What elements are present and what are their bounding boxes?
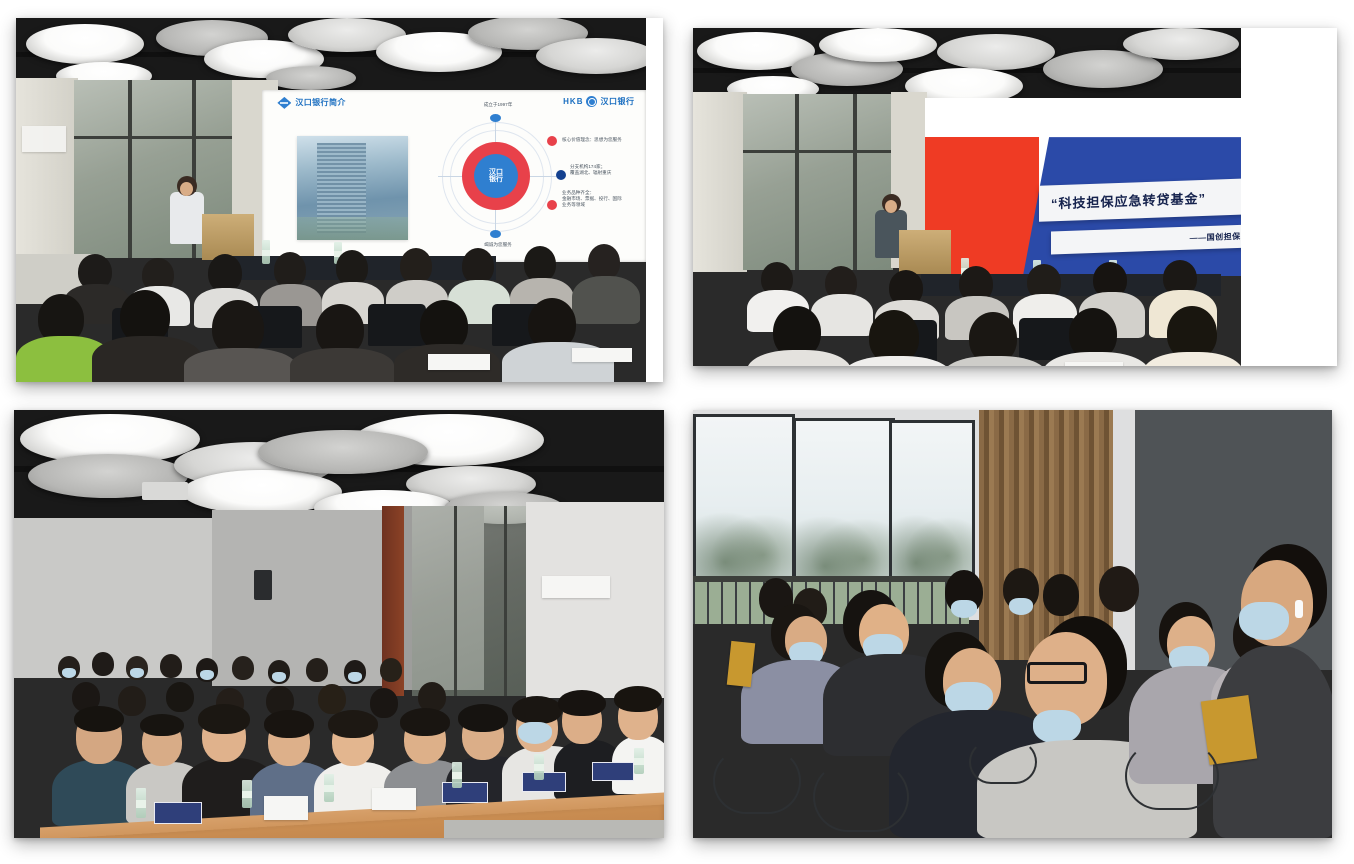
attendee-hair bbox=[614, 686, 662, 712]
photo-seated-attendees-profile bbox=[693, 410, 1332, 838]
placard-label bbox=[464, 790, 466, 795]
annotation-service: 竭诚为您服务 bbox=[458, 242, 538, 248]
wall-speaker bbox=[254, 570, 272, 600]
placard-label bbox=[612, 769, 614, 774]
photo-guochuang-guarantee-presentation: 国创融资担保 支撑 产业 服务 社会 “科技担保应急转贷基金” bbox=[693, 28, 1241, 366]
audience-head bbox=[524, 246, 556, 282]
audience-shoulder-front bbox=[184, 348, 296, 382]
foliage bbox=[796, 507, 892, 581]
audience-head-mid bbox=[118, 686, 146, 716]
placard-label bbox=[543, 780, 545, 785]
partition-mullion bbox=[504, 506, 507, 696]
name-placard bbox=[154, 802, 202, 824]
window-mullion bbox=[853, 94, 857, 270]
chair-arm bbox=[1125, 742, 1219, 810]
slide-signature: ——国创担保 bbox=[1190, 231, 1241, 244]
chair-arm bbox=[713, 748, 801, 814]
audience-head bbox=[400, 248, 432, 284]
photo-hankou-bank-presentation: 汉口银行简介 HKB 汉口银行 汉口 银行 bbox=[16, 18, 646, 382]
audience-head bbox=[588, 244, 620, 280]
attendee-hair bbox=[264, 710, 314, 738]
hkb-chinese-name: 汉口银行 bbox=[600, 96, 634, 107]
projection-screen: 国创融资担保 支撑 产业 服务 社会 “科技担保应急转贷基金” bbox=[925, 98, 1241, 276]
audience-head-mid bbox=[318, 684, 346, 714]
annotation-branches: 分支机构174家；覆盖湖北、辐射重庆 bbox=[570, 164, 611, 176]
wall-panel bbox=[14, 518, 214, 678]
slide-title: 汉口银行简介 bbox=[295, 97, 345, 108]
foliage bbox=[892, 506, 972, 577]
slide-main-title: “科技担保应急转贷基金” bbox=[1051, 188, 1206, 212]
water-bottle bbox=[534, 754, 544, 780]
attendee-hair bbox=[558, 690, 606, 716]
table-paper bbox=[372, 788, 416, 810]
photo-audience-at-long-table bbox=[14, 410, 664, 838]
hkb-logo: HKB 汉口银行 bbox=[563, 96, 634, 107]
window-glazing bbox=[743, 94, 893, 270]
annotation-business: 业务品种齐全：金融市场、票据、投行、国际业务等领域 bbox=[562, 190, 622, 209]
audience-head bbox=[336, 250, 368, 286]
attendee-hair bbox=[328, 710, 378, 738]
audience-head bbox=[274, 252, 306, 288]
slide-header-band bbox=[925, 98, 1241, 137]
attendee-head-back bbox=[1043, 574, 1079, 616]
table-paper bbox=[1065, 362, 1123, 366]
window-mullion bbox=[74, 136, 234, 139]
hkb-wordmark: HKB bbox=[563, 97, 583, 106]
earbud-icon bbox=[1295, 600, 1303, 618]
attendee-hair bbox=[74, 706, 124, 732]
hkb-globe-icon bbox=[586, 96, 597, 107]
ceiling-lamp bbox=[266, 66, 356, 90]
annotation-values: 核心价值理念：思想为您服务 bbox=[562, 137, 622, 143]
audience-head-back bbox=[232, 656, 254, 680]
window-right bbox=[889, 420, 975, 580]
chair-arm bbox=[969, 740, 1037, 784]
audience-shoulder-front bbox=[290, 348, 394, 382]
window-left bbox=[693, 414, 795, 580]
face-mask bbox=[272, 672, 286, 682]
attendee-hair bbox=[458, 704, 508, 732]
floor bbox=[444, 820, 664, 838]
attendee-hair bbox=[512, 696, 562, 724]
audience-shoulder bbox=[572, 276, 640, 324]
wall-sign bbox=[542, 576, 610, 598]
water-bottle bbox=[262, 240, 270, 264]
wall-panel bbox=[526, 502, 664, 698]
face-mask-lowered bbox=[1033, 710, 1081, 744]
audience-head-back bbox=[306, 658, 328, 682]
audience-head-back bbox=[160, 654, 182, 678]
wall-pillar bbox=[16, 78, 78, 258]
glass-partition bbox=[412, 506, 528, 696]
annotation-dot-top bbox=[490, 114, 501, 122]
table-paper bbox=[264, 796, 308, 820]
lectern bbox=[899, 230, 951, 274]
face-mask bbox=[518, 722, 552, 744]
ceiling-lamp bbox=[819, 28, 937, 62]
name-placard bbox=[442, 782, 488, 803]
attendee-hair bbox=[400, 708, 450, 736]
audience-head-back bbox=[92, 652, 114, 676]
card-white-margin bbox=[1241, 28, 1337, 366]
ceiling-lamp bbox=[26, 24, 144, 64]
ceiling-projector bbox=[142, 482, 188, 500]
audience-shoulder-front bbox=[1143, 352, 1241, 366]
audience-head-back bbox=[380, 658, 402, 682]
window-mullion bbox=[743, 150, 893, 153]
face-mask bbox=[1009, 598, 1033, 615]
core-label-line2: 银行 bbox=[489, 176, 503, 183]
photo-card-bottom-right[interactable] bbox=[693, 410, 1332, 838]
wall-divider bbox=[1113, 410, 1135, 670]
photo-card-top-left[interactable]: 汉口银行简介 HKB 汉口银行 汉口 银行 bbox=[16, 18, 663, 382]
ceiling-lamp bbox=[1123, 28, 1239, 60]
annotation-dot-bottom bbox=[490, 230, 501, 238]
water-bottle bbox=[634, 748, 644, 774]
envelope-small bbox=[727, 641, 755, 687]
audience-head-mid bbox=[166, 682, 194, 712]
lectern bbox=[202, 214, 254, 260]
hankou-diamond-logo-icon bbox=[277, 97, 291, 109]
window-mullion bbox=[128, 80, 132, 258]
projection-screen: 汉口银行简介 HKB 汉口银行 汉口 银行 bbox=[262, 90, 646, 262]
attendee-hair bbox=[140, 714, 184, 736]
photo-collage: 汉口银行简介 HKB 汉口银行 汉口 银行 bbox=[0, 0, 1354, 864]
attendee-head-back bbox=[1099, 566, 1139, 612]
audience-head bbox=[208, 254, 242, 292]
wall-sign bbox=[22, 126, 66, 152]
audience-head-mid bbox=[370, 688, 398, 718]
speaker-face bbox=[180, 182, 193, 196]
face-mask bbox=[130, 668, 144, 678]
diagram-core-inner: 汉口 银行 bbox=[474, 154, 518, 198]
water-bottle bbox=[136, 788, 146, 818]
name-placard bbox=[522, 772, 566, 792]
chair-arm bbox=[813, 762, 909, 832]
bank-tower-photo bbox=[297, 136, 408, 239]
ceiling-lamp bbox=[258, 430, 428, 474]
ceiling-lamp bbox=[937, 34, 1055, 70]
annotation-dot-business bbox=[547, 200, 557, 210]
face-mask bbox=[200, 670, 214, 680]
chair-back bbox=[368, 304, 426, 346]
core-label-line1: 汉口 bbox=[489, 169, 503, 176]
water-bottle bbox=[324, 774, 334, 802]
annotation-dot-values bbox=[547, 136, 557, 146]
water-bottle bbox=[242, 780, 252, 808]
foliage bbox=[696, 503, 792, 577]
annotation-founded: 成立于1997年 bbox=[458, 102, 538, 108]
photo-card-top-right[interactable]: 国创融资担保 支撑 产业 服务 社会 “科技担保应急转贷基金” bbox=[693, 28, 1337, 366]
window-railing bbox=[693, 582, 969, 624]
slide-title-ribbon: “科技担保应急转贷基金” bbox=[1039, 178, 1241, 221]
wall-pillar bbox=[693, 92, 747, 272]
window-mullion bbox=[795, 94, 799, 270]
face-mask bbox=[62, 668, 76, 678]
water-bottle bbox=[452, 762, 462, 788]
face-mask bbox=[951, 600, 977, 618]
audience-head bbox=[462, 248, 494, 284]
placard-label bbox=[177, 811, 179, 816]
photo-card-bottom-left[interactable] bbox=[14, 410, 664, 838]
annotation-dot-branches bbox=[556, 170, 566, 180]
slide-header: 汉口银行简介 bbox=[277, 97, 345, 109]
eyeglasses-icon bbox=[1027, 662, 1087, 684]
attendee-hair bbox=[198, 704, 250, 734]
window-center bbox=[793, 418, 895, 584]
ceiling-lamp bbox=[536, 38, 646, 74]
name-placard bbox=[592, 762, 634, 781]
speaker-torso bbox=[170, 192, 204, 244]
face-mask bbox=[348, 672, 362, 682]
partition-mullion bbox=[454, 506, 457, 696]
table-paper bbox=[428, 354, 490, 370]
speaker-face bbox=[885, 200, 897, 213]
table-paper bbox=[572, 348, 632, 362]
face-mask bbox=[1239, 602, 1289, 640]
audience-shoulder-front bbox=[747, 350, 851, 366]
